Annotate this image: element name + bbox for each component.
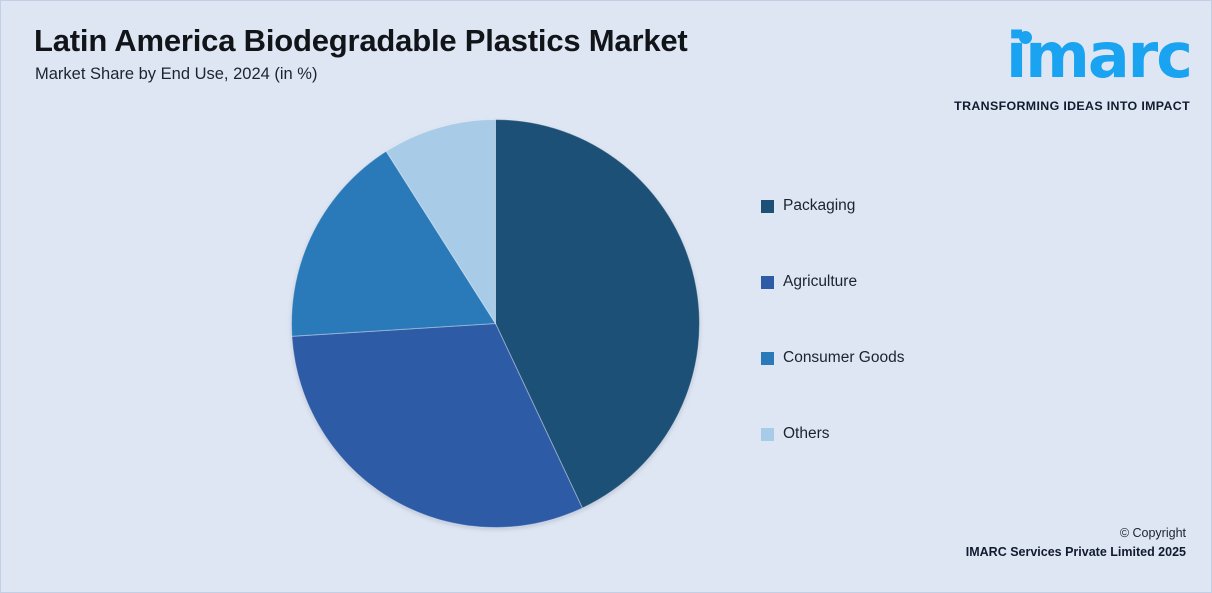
legend-item[interactable]: Consumer Goods	[761, 349, 1041, 367]
imarc-logo: imarc TRANSFORMING IDEAS INTO IMPACT	[955, 17, 1191, 117]
legend-swatch-icon	[761, 428, 774, 441]
pie-chart-svg	[291, 119, 700, 528]
logo-wordmark-text: imarc	[1006, 19, 1191, 92]
legend-swatch-icon	[761, 276, 774, 289]
legend-item-label: Others	[783, 425, 830, 443]
legend-item[interactable]: Agriculture	[761, 273, 1041, 291]
legend-item[interactable]: Others	[761, 425, 1041, 443]
page-subtitle: Market Share by End Use, 2024 (in %)	[35, 65, 317, 84]
legend-swatch-icon	[761, 200, 774, 213]
legend-item[interactable]: Packaging	[761, 197, 1041, 215]
page-title: Latin America Biodegradable Plastics Mar…	[34, 23, 688, 59]
legend-item-label: Packaging	[783, 197, 855, 215]
infographic-canvas: Latin America Biodegradable Plastics Mar…	[0, 0, 1212, 593]
legend-swatch-icon	[761, 352, 774, 365]
footer-copyright: © Copyright	[966, 526, 1186, 540]
legend-item-label: Consumer Goods	[783, 349, 904, 367]
logo-tagline: TRANSFORMING IDEAS INTO IMPACT	[954, 99, 1190, 113]
pie-chart	[291, 119, 700, 528]
logo-wordmark: imarc	[1006, 25, 1191, 87]
legend-item-label: Agriculture	[783, 273, 857, 291]
footer: © Copyright IMARC Services Private Limit…	[966, 526, 1186, 559]
logo-dot-icon	[1019, 31, 1032, 44]
footer-company: IMARC Services Private Limited 2025	[966, 545, 1186, 559]
chart-legend: PackagingAgricultureConsumer GoodsOthers	[761, 197, 1041, 501]
